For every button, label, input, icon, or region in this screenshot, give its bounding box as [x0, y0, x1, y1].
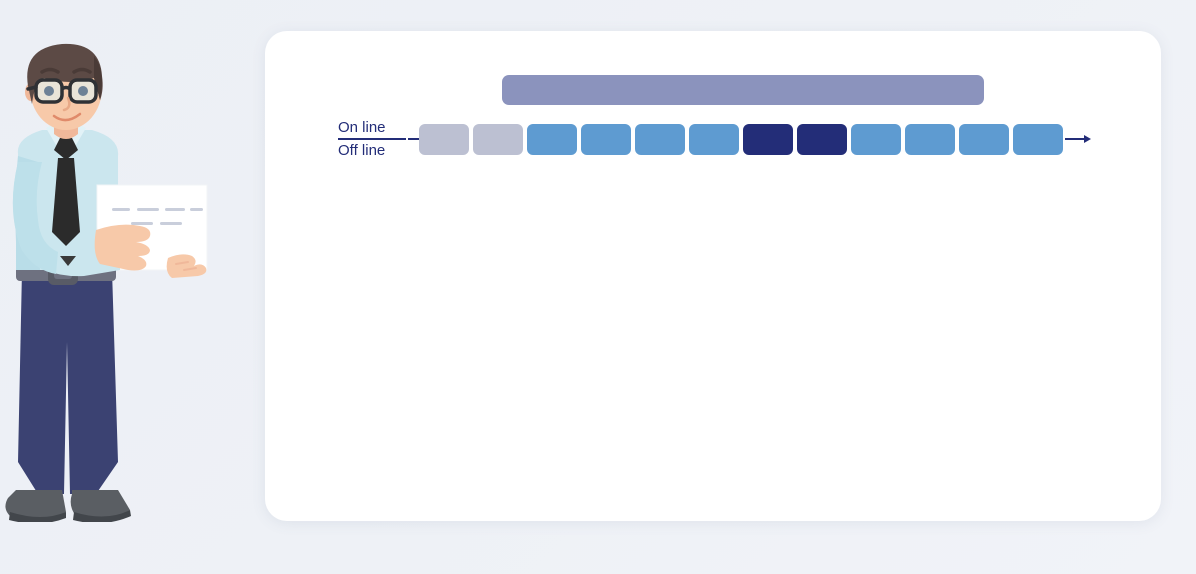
timeline-block-2 [473, 124, 523, 155]
axis-label-off-line: Off line [338, 141, 389, 159]
presenter-illustration [0, 42, 215, 522]
axis-label-divider [338, 138, 406, 140]
timeline-block-12 [1013, 124, 1063, 155]
axis-arrow-right-icon [1065, 135, 1091, 143]
title-placeholder-text [502, 75, 984, 105]
timeline-block-6 [689, 124, 739, 155]
axis-label-fraction: On line Off line [338, 119, 408, 159]
timeline-block-10 [905, 124, 955, 155]
axis-connector-line [408, 138, 419, 140]
page-background: On line Off line [0, 0, 1196, 574]
timeline-block-8 [797, 124, 847, 155]
hand-left-shape [95, 225, 151, 271]
timeline-block-3 [527, 124, 577, 155]
title-placeholder-bar [502, 75, 984, 105]
arrow-head [1084, 135, 1091, 143]
timeline-block-1 [419, 124, 469, 155]
timeline-block-11 [959, 124, 1009, 155]
arrow-shaft [1065, 138, 1085, 140]
timeline-block-9 [851, 124, 901, 155]
timeline-blocks [419, 124, 1063, 155]
timeline-block-7 [743, 124, 793, 155]
trousers-shape [18, 270, 118, 494]
timeline-block-5 [635, 124, 685, 155]
content-card: On line Off line [265, 31, 1161, 521]
timeline: On line Off line [338, 116, 1091, 162]
shoes-shape [5, 490, 131, 522]
timeline-block-4 [581, 124, 631, 155]
glasses-icon [28, 80, 96, 102]
axis-label-on-line: On line [338, 119, 390, 137]
